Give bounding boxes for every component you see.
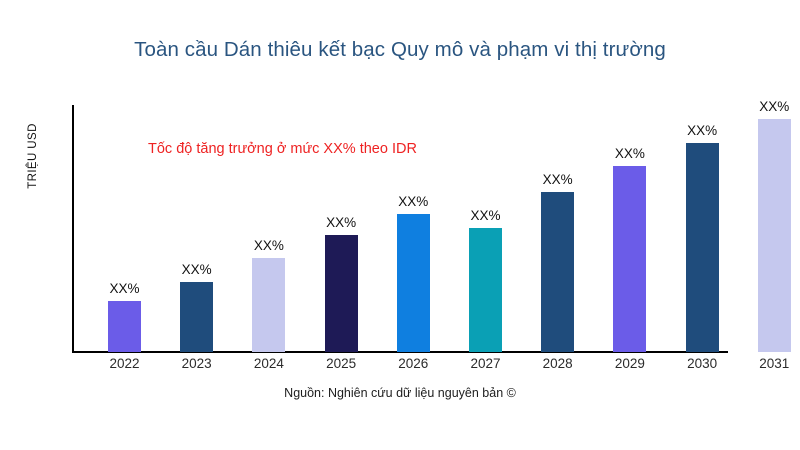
bar-value-label: XX% <box>166 262 227 277</box>
bar-group-2029[interactable]: XX% <box>613 166 646 352</box>
bar-2022[interactable] <box>108 301 141 352</box>
bar-value-label: XX% <box>311 215 372 230</box>
bar-value-label: XX% <box>599 146 660 161</box>
bar-2029[interactable] <box>613 166 646 352</box>
x-tick-2026: 2026 <box>382 356 444 371</box>
bar-group-2027[interactable]: XX% <box>469 228 502 352</box>
bar-value-label: XX% <box>527 172 588 187</box>
x-tick-2028: 2028 <box>527 356 589 371</box>
x-tick-2031: 2031 <box>743 356 800 371</box>
x-tick-2023: 2023 <box>166 356 228 371</box>
bar-2031[interactable] <box>758 119 791 352</box>
x-tick-2027: 2027 <box>455 356 517 371</box>
x-tick-2022: 2022 <box>94 356 156 371</box>
bar-group-2025[interactable]: XX% <box>325 235 358 352</box>
bar-group-2031[interactable]: XX% <box>758 119 791 352</box>
bar-value-label: XX% <box>383 194 444 209</box>
bar-group-2030[interactable]: XX% <box>686 143 719 352</box>
source-note: Nguồn: Nghiên cứu dữ liệu nguyên bản © <box>0 386 800 400</box>
bar-value-label: XX% <box>672 123 733 138</box>
bar-group-2024[interactable]: XX% <box>252 258 285 352</box>
bar-2027[interactable] <box>469 228 502 352</box>
x-tick-2024: 2024 <box>238 356 300 371</box>
bar-2026[interactable] <box>397 214 430 352</box>
bar-2028[interactable] <box>541 192 574 352</box>
bar-value-label: XX% <box>94 281 155 296</box>
bar-group-2022[interactable]: XX% <box>108 301 141 352</box>
x-tick-2025: 2025 <box>310 356 372 371</box>
bar-2030[interactable] <box>686 143 719 352</box>
bar-2023[interactable] <box>180 282 213 352</box>
chart-container: Toàn cầu Dán thiêu kết bạc Quy mô và phạ… <box>0 0 800 450</box>
bar-value-label: XX% <box>455 208 516 223</box>
x-tick-2030: 2030 <box>671 356 733 371</box>
bar-2025[interactable] <box>325 235 358 352</box>
bar-2024[interactable] <box>252 258 285 352</box>
bar-group-2023[interactable]: XX% <box>180 282 213 352</box>
bar-value-label: XX% <box>744 99 800 114</box>
plot-area: XX%2022XX%2023XX%2024XX%2025XX%2026XX%20… <box>0 0 800 450</box>
x-tick-2029: 2029 <box>599 356 661 371</box>
bar-group-2028[interactable]: XX% <box>541 192 574 352</box>
bar-value-label: XX% <box>238 238 299 253</box>
bar-group-2026[interactable]: XX% <box>397 214 430 352</box>
